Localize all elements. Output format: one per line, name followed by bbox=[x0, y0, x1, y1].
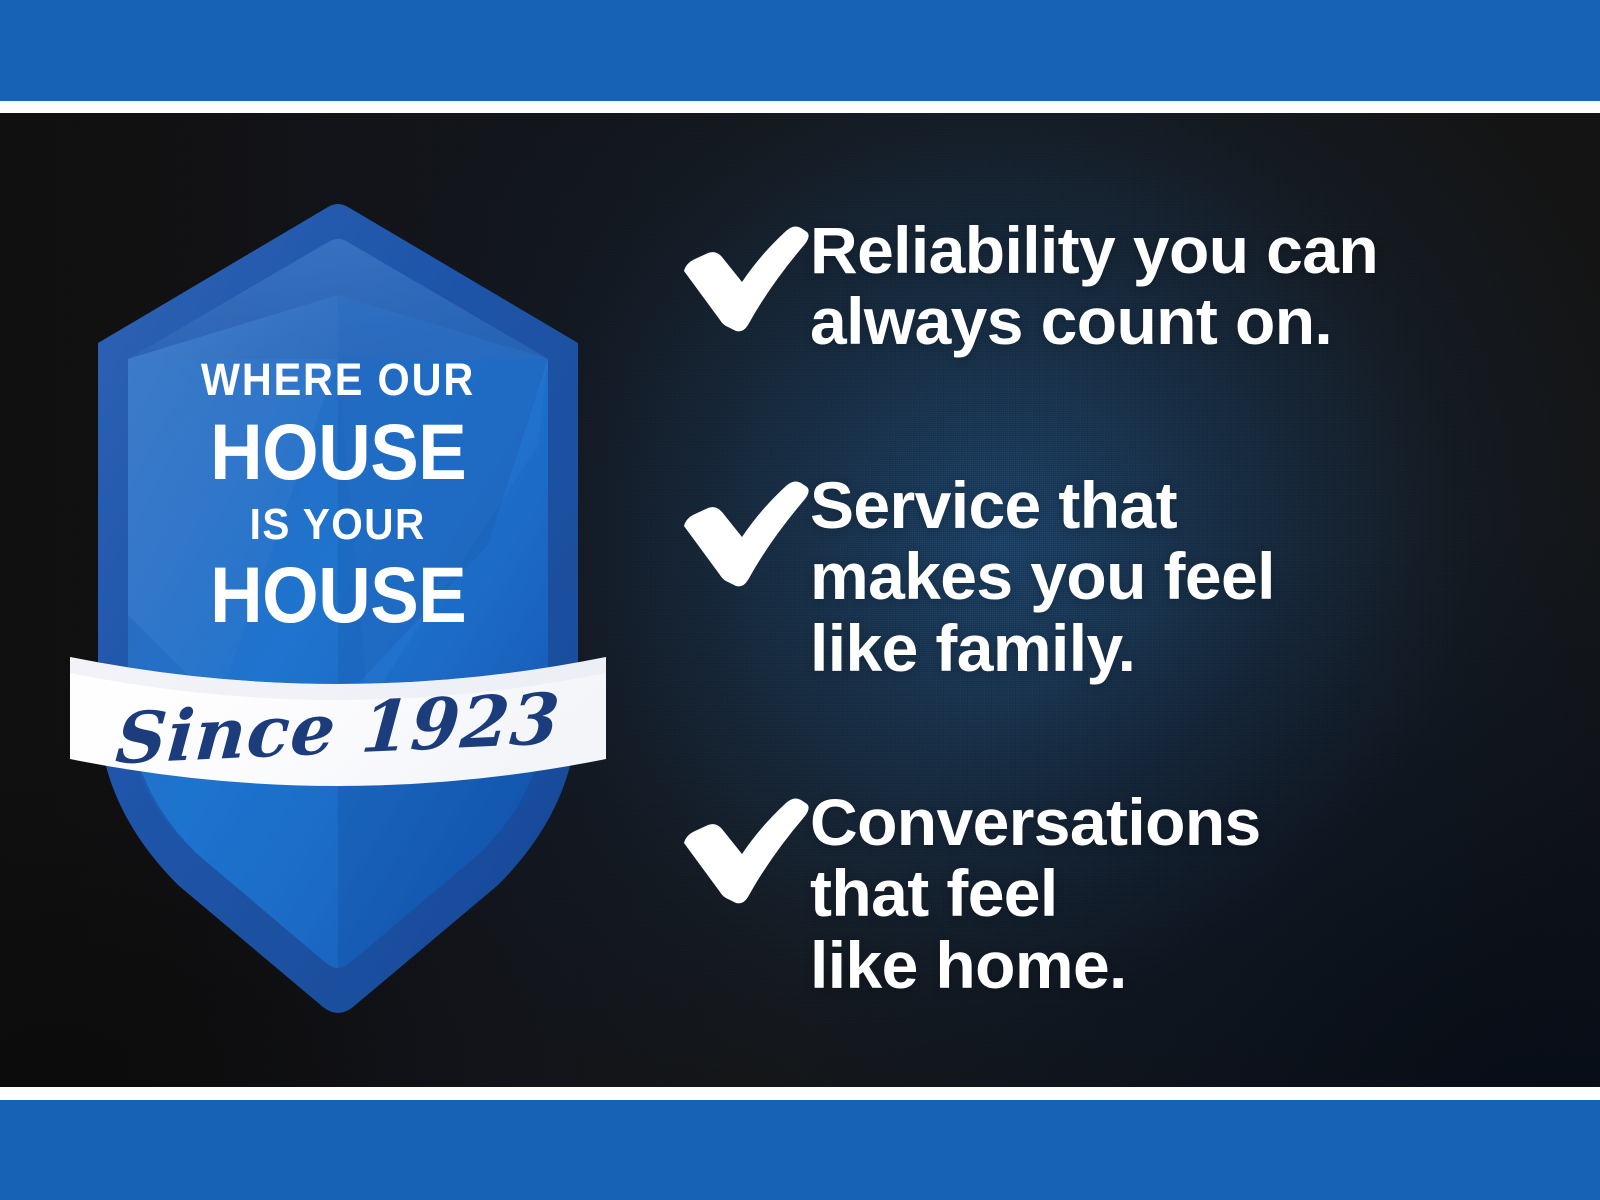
check-icon-wrap bbox=[660, 785, 810, 905]
shield-badge: Where Our House Is Your House Since 1923 bbox=[68, 145, 608, 955]
list-item: Conversations that feel like home. bbox=[660, 785, 1261, 1001]
bottom-brand-bar bbox=[0, 1100, 1600, 1200]
top-brand-bar bbox=[0, 0, 1600, 101]
shield-graphic bbox=[68, 145, 608, 955]
list-item: Service that makes you feel like family. bbox=[660, 468, 1275, 684]
check-icon bbox=[678, 474, 810, 588]
check-icon bbox=[678, 791, 810, 905]
check-icon-wrap bbox=[660, 213, 810, 333]
list-item: Reliability you can always count on. bbox=[660, 213, 1378, 358]
benefits-checklist: Reliability you can always count on. Ser… bbox=[660, 113, 1540, 1087]
list-item-text: Reliability you can always count on. bbox=[810, 213, 1378, 358]
list-item-text: Conversations that feel like home. bbox=[810, 785, 1261, 1001]
promo-graphic: Where Our House Is Your House Since 1923… bbox=[0, 0, 1600, 1200]
list-item-text: Service that makes you feel like family. bbox=[810, 468, 1275, 684]
check-icon bbox=[678, 219, 810, 333]
check-icon-wrap bbox=[660, 468, 810, 588]
